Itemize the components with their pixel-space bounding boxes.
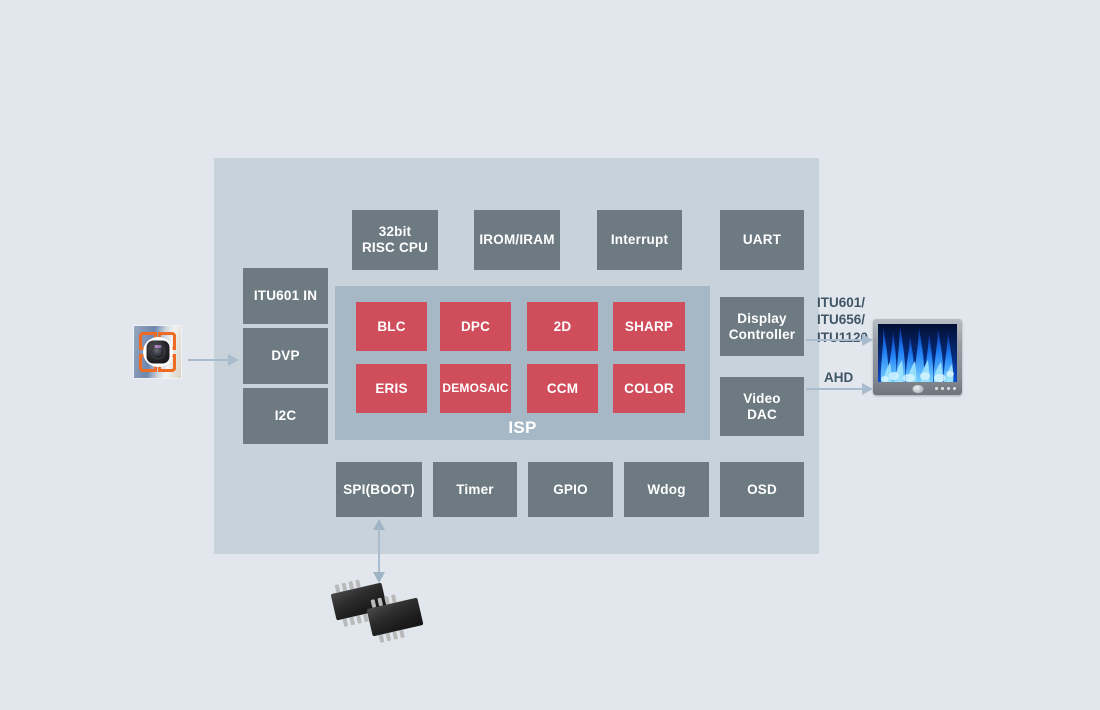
camera-lens-icon [152,346,164,358]
monitor-screen-image [878,324,957,382]
monitor-indicator-dots [935,387,956,390]
isp-panel-title: ISP [335,417,710,439]
arrow-camera-to-dvp-head-icon [228,354,239,366]
block-interrupt[interactable]: Interrupt [597,210,682,270]
block-blc[interactable]: BLC [356,302,427,351]
block-uart[interactable]: UART [720,210,804,270]
arrow-videodac-to-monitor-line [806,388,864,390]
block-eris[interactable]: ERIS [356,364,427,413]
block-irom-iram[interactable]: IROM/IRAM [474,210,560,270]
block-risc-cpu[interactable]: 32bit RISC CPU [352,210,438,270]
flash-chip-2 [367,598,424,637]
block-2d[interactable]: 2D [527,302,598,351]
block-i2c[interactable]: I2C [243,388,328,444]
block-video-dac[interactable]: Video DAC [720,377,804,436]
arrow-display-to-monitor-line [806,339,864,341]
block-dvp[interactable]: DVP [243,328,328,384]
arrow-display-to-monitor-head-icon [862,334,873,346]
diagram-canvas: 32bit RISC CPU IROM/IRAM Interrupt UART … [0,0,1100,710]
block-sharp[interactable]: SHARP [613,302,685,351]
monitor-power-button-icon[interactable] [912,385,923,393]
block-osd[interactable]: OSD [720,462,804,517]
label-ahd-output: AHD [824,369,853,386]
block-spi-boot[interactable]: SPI(BOOT) [336,462,422,517]
block-ccm[interactable]: CCM [527,364,598,413]
block-dpc[interactable]: DPC [440,302,511,351]
display-monitor-icon [873,319,962,395]
block-display-controller[interactable]: Display Controller [720,297,804,356]
camera-lens-glint [154,345,161,348]
monitor-screen [878,324,957,382]
spi-flash-chips-icon [333,585,429,640]
arrow-spi-down-head-icon [373,572,385,583]
arrow-camera-to-dvp-line [188,359,230,361]
arrow-spi-line [378,527,380,575]
camera-module-icon [134,326,181,378]
arrow-videodac-to-monitor-head-icon [862,383,873,395]
block-wdog[interactable]: Wdog [624,462,709,517]
block-timer[interactable]: Timer [433,462,517,517]
block-itu601-in[interactable]: ITU601 IN [243,268,328,324]
block-demosaic[interactable]: DEMOSAIC [440,364,511,413]
block-color[interactable]: COLOR [613,364,685,413]
io-interface-stack: ITU601 IN DVP I2C [243,268,328,444]
block-gpio[interactable]: GPIO [528,462,613,517]
